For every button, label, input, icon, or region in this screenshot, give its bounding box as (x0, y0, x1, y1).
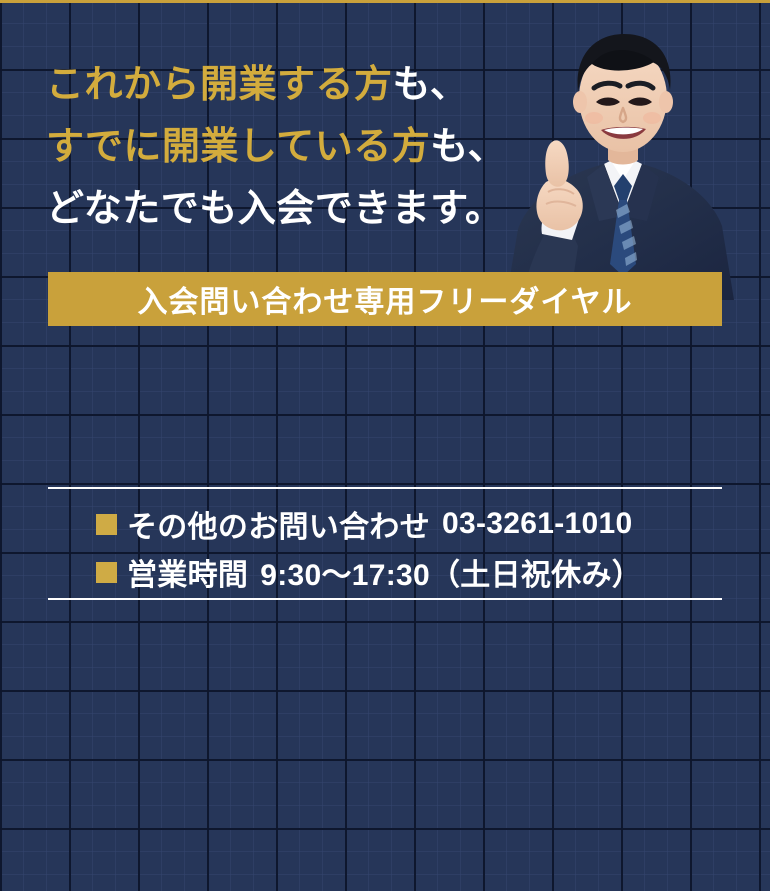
gold-square-bullet-icon (96, 562, 117, 583)
headline-line-2: すでに開業している方も、 (46, 116, 516, 178)
contact-business-hours-value: 9:30〜17:30（土日祝休み） (248, 550, 642, 594)
thumb (545, 140, 569, 186)
promo-banner: これから開業する方も、 すでに開業している方も、 どなたでも入会できます。 入会… (0, 0, 770, 891)
top-gold-rule (0, 0, 770, 3)
left-ear (573, 91, 587, 113)
freedial-cta-label: 入会問い合わせ専用フリーダイヤル (137, 277, 632, 321)
headline-line-2-white: も、 (430, 126, 506, 168)
headline-line-3-white: どなたでも入会できます。 (46, 188, 503, 230)
contact-row-other-inquiries: その他のお問い合わせ 03-3261-1010 (96, 500, 642, 548)
headline-line-1-gold: これから開業する方 (46, 64, 393, 106)
contact-label-other-inquiries: その他のお問い合わせ (127, 502, 430, 546)
contact-list: その他のお問い合わせ 03-3261-1010 営業時間 9:30〜17:30（… (96, 500, 642, 596)
headline-line-1-white: も、 (393, 64, 469, 106)
contact-row-business-hours: 営業時間 9:30〜17:30（土日祝休み） (96, 548, 642, 596)
right-ear (659, 91, 673, 113)
headline-line-3: どなたでも入会できます。 (46, 178, 516, 240)
headline: これから開業する方も、 すでに開業している方も、 どなたでも入会できます。 (46, 54, 516, 240)
contact-divider-top (48, 487, 722, 489)
contact-label-business-hours: 営業時間 (127, 550, 248, 594)
gold-square-bullet-icon (96, 514, 117, 535)
headline-line-1: これから開業する方も、 (46, 54, 516, 116)
contact-phone-number[interactable]: 03-3261-1010 (430, 507, 632, 541)
contact-divider-bottom (48, 598, 722, 600)
freedial-cta-bar[interactable]: 入会問い合わせ専用フリーダイヤル (48, 272, 722, 326)
businessman-photo (496, 14, 764, 300)
headline-line-2-gold: すでに開業している方 (46, 126, 430, 168)
